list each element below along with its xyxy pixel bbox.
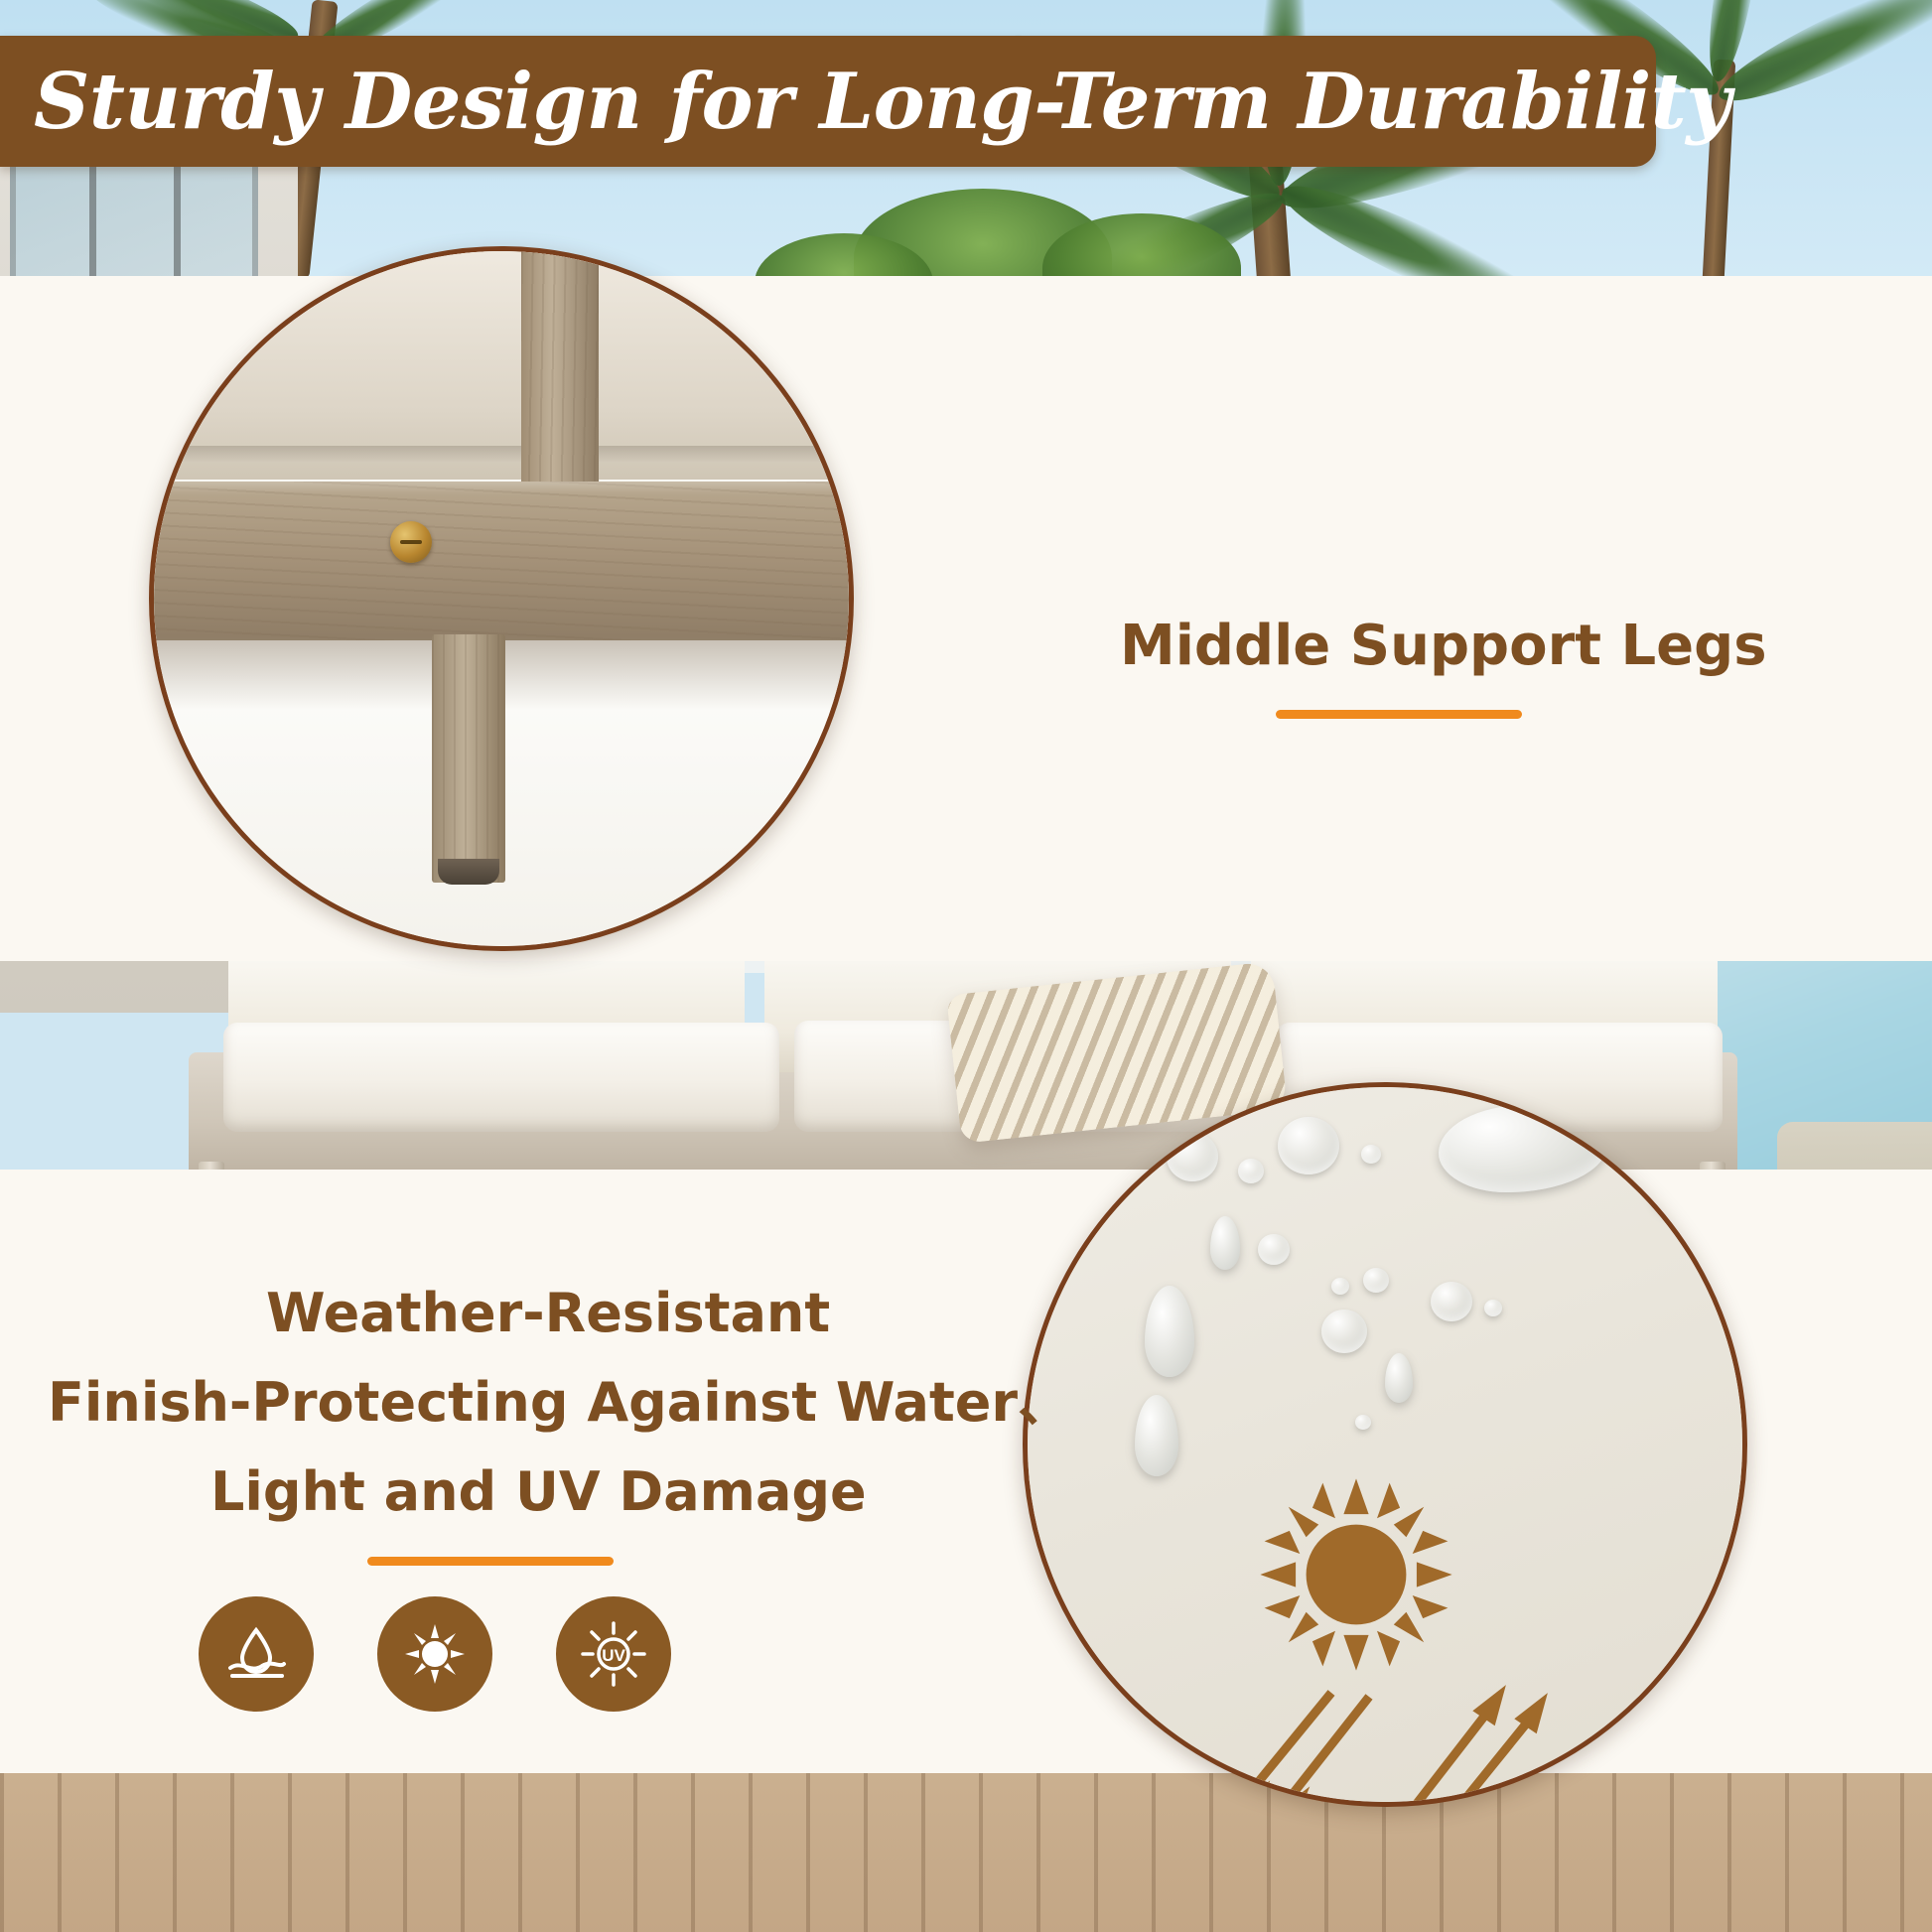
sofa-seat-cushion [223,1023,779,1132]
sun-icon [1252,1470,1460,1679]
wood-post [521,246,599,489]
water-droplet [1145,1286,1194,1377]
uv-icon: UV [580,1620,647,1688]
water-droplet [1355,1415,1371,1430]
water-drop-icon [224,1622,288,1686]
accent-bar-middle-support-legs [1276,710,1522,719]
leg-foot-pad [438,859,499,885]
badge-water-resistant [199,1596,314,1712]
water-beading-photo [1028,1087,1742,1802]
uv-rays-icon [1182,1683,1580,1807]
cushion-seam [149,446,854,462]
callout-middle-support-legs [149,246,854,951]
uv-badge-label: UV [602,1646,625,1665]
feature-title-weather-resistant-line2: Finish-Protecting Against Water、 [48,1368,1071,1437]
feature-badges: UV [199,1596,671,1712]
water-droplet [1321,1310,1367,1353]
header-banner: Sturdy Design for Long-Term Durability [0,36,1656,167]
callout-weather-resistant [1023,1082,1747,1807]
page-title: Sturdy Design for Long-Term Durability [0,57,1730,147]
water-droplet [1135,1395,1178,1476]
water-droplet [1331,1278,1349,1295]
wood-side-rail [149,482,854,640]
water-droplet [1363,1268,1389,1293]
leg-closeup-photo [154,251,849,946]
water-droplet [1210,1216,1240,1270]
water-droplet [1431,1282,1472,1321]
water-droplet [1484,1300,1502,1316]
water-droplet [1361,1145,1381,1164]
water-droplet-large [1439,1105,1607,1192]
badge-uv-resistant: UV [556,1596,671,1712]
water-droplet [1238,1159,1264,1183]
feature-title-weather-resistant-line3: Light and UV Damage [210,1457,867,1526]
screw-icon [390,521,432,563]
feature-title-weather-resistant-line1: Weather-Resistant [266,1279,830,1347]
middle-support-leg [432,634,505,883]
water-droplet [1385,1353,1413,1403]
badge-light-resistant [377,1596,492,1712]
water-droplet [1167,1132,1218,1181]
poster-canvas: Sturdy Design for Long-Term Durability M… [0,0,1932,1932]
accent-bar-weather-resistant [367,1557,614,1566]
water-droplet [1649,1127,1695,1212]
water-droplet [1278,1117,1339,1174]
feature-title-middle-support-legs: Middle Support Legs [1120,611,1767,682]
water-droplet [1258,1234,1290,1265]
sun-icon [403,1622,467,1686]
